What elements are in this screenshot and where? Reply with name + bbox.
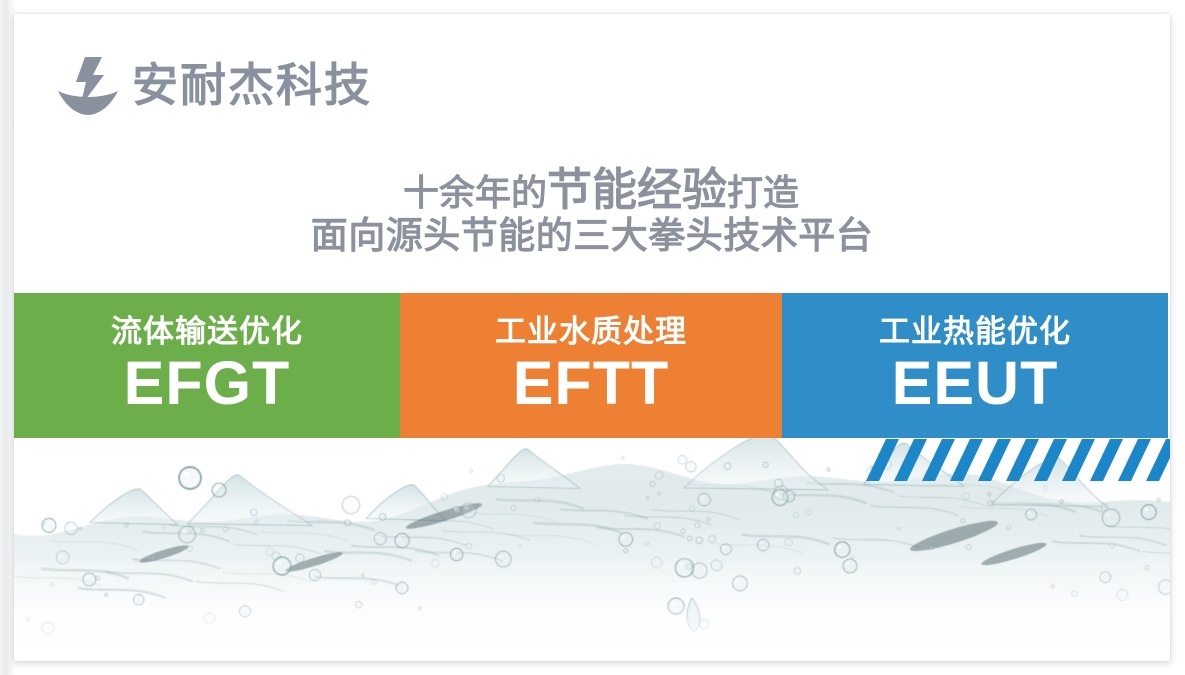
platform-panel-efgt[interactable]: 流体输送优化 EFGT [14, 293, 400, 438]
headline-prefix: 十余年的 [403, 173, 547, 214]
headline-line-2: 面向源头节能的三大拳头技术平台 [14, 216, 1170, 256]
brand-logo[interactable]: 安耐杰科技 [52, 46, 372, 124]
brand-name: 安耐杰科技 [132, 62, 372, 108]
platform-name-cn: 流体输送优化 [111, 315, 303, 350]
lightning-bolt-arc-icon [52, 49, 124, 121]
slide-page: 安耐杰科技 十余年的节能经验打造 面向源头节能的三大拳头技术平台 流体输送优化 … [0, 0, 1185, 675]
diagonal-stripes-decoration [860, 439, 1170, 481]
headline-line-1: 十余年的节能经验打造 [32, 166, 1170, 214]
platform-panel-eeut[interactable]: 工业热能优化 EEUT [782, 293, 1168, 438]
platform-panels: 流体输送优化 EFGT 工业水质处理 EFTT 工业热能优化 EEUT [14, 293, 1168, 438]
page-title: 十余年的节能经验打造 面向源头节能的三大拳头技术平台 [14, 166, 1170, 256]
platform-name-cn: 工业水质处理 [495, 315, 687, 350]
platform-panel-eftt[interactable]: 工业水质处理 EFTT [400, 293, 782, 438]
platform-code: EFGT [124, 352, 291, 415]
slide-canvas: 安耐杰科技 十余年的节能经验打造 面向源头节能的三大拳头技术平台 流体输送优化 … [14, 14, 1170, 661]
platform-code: EFTT [513, 352, 669, 415]
platform-name-cn: 工业热能优化 [879, 315, 1071, 350]
platform-code: EEUT [892, 352, 1059, 415]
headline-emphasis: 节能经验 [547, 163, 727, 216]
headline-suffix: 打造 [727, 173, 799, 214]
